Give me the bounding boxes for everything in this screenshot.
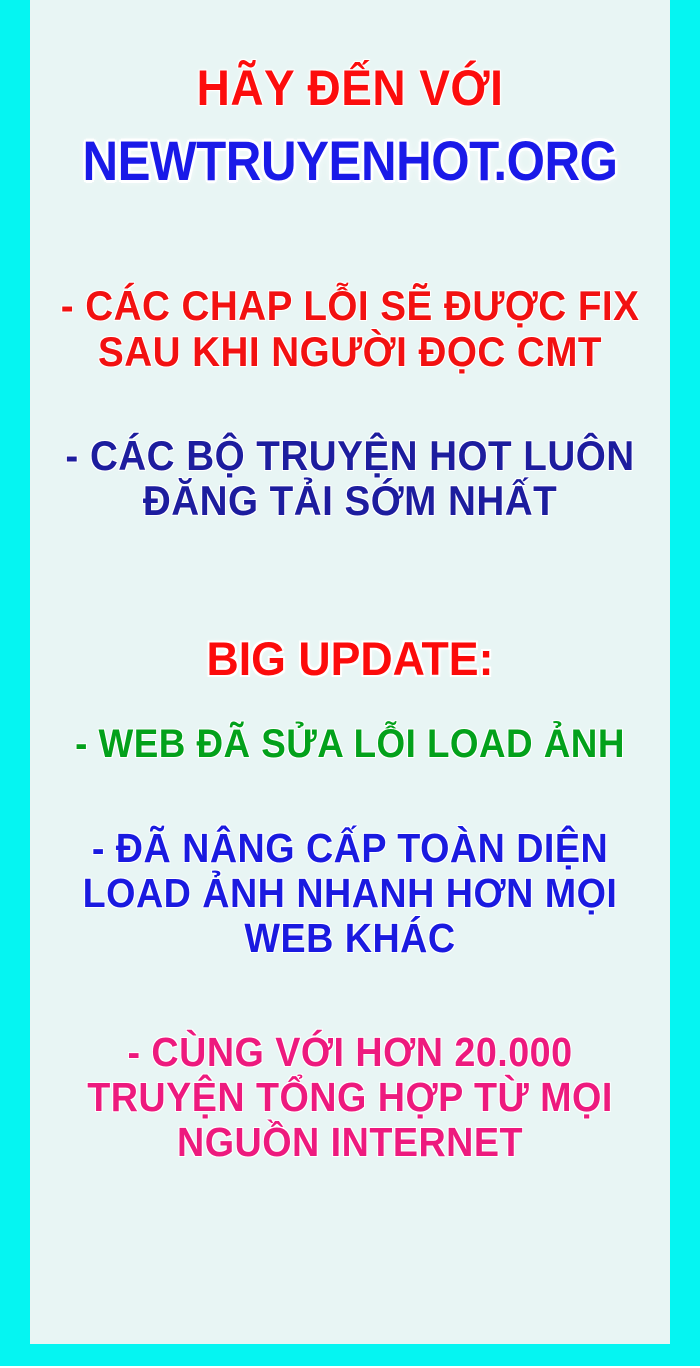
section-title-big-update: BIG UPDATE: <box>46 635 654 684</box>
bullet-pink-line-3: NGUỒN INTERNET <box>56 1121 645 1164</box>
bullet-navy-line-2: ĐĂNG TẢI SỚM NHẤT <box>56 479 645 523</box>
bullet-green-line-1: - WEB ĐÃ SỬA LỖI LOAD ẢNH <box>56 724 645 766</box>
bullet-red-line-1: - CÁC CHAP LỖI SẼ ĐƯỢC FIX <box>56 284 645 328</box>
bullet-pink-line-2: TRUYỆN TỔNG HỢP TỪ MỌI <box>56 1076 645 1119</box>
headline-text: HÃY ĐẾN VỚI <box>56 62 645 114</box>
frame-bar-left <box>0 0 30 1344</box>
bullet-blue-line-1: - ĐÃ NÂNG CẤP TOÀN DIỆN <box>56 827 645 870</box>
bullet-red-line-2: SAU KHI NGƯỜI ĐỌC CMT <box>56 330 645 374</box>
frame-bar-right <box>670 0 700 1344</box>
frame-bar-bottom <box>0 1344 700 1366</box>
site-domain-text[interactable]: NEWTRUYENHOT.ORG <box>68 132 631 190</box>
bullet-blue-line-2: LOAD ẢNH NHANH HƠN MỌI <box>56 872 645 915</box>
promo-card: HÃY ĐẾN VỚI NEWTRUYENHOT.ORG - CÁC CHAP … <box>30 0 670 1344</box>
bullet-navy-line-1: - CÁC BỘ TRUYỆN HOT LUÔN <box>56 434 645 478</box>
bullet-pink-line-1: - CÙNG VỚI HƠN 20.000 <box>56 1031 645 1074</box>
bullet-blue-line-3: WEB KHÁC <box>56 917 645 960</box>
promo-banner: HÃY ĐẾN VỚI NEWTRUYENHOT.ORG - CÁC CHAP … <box>0 0 700 1368</box>
